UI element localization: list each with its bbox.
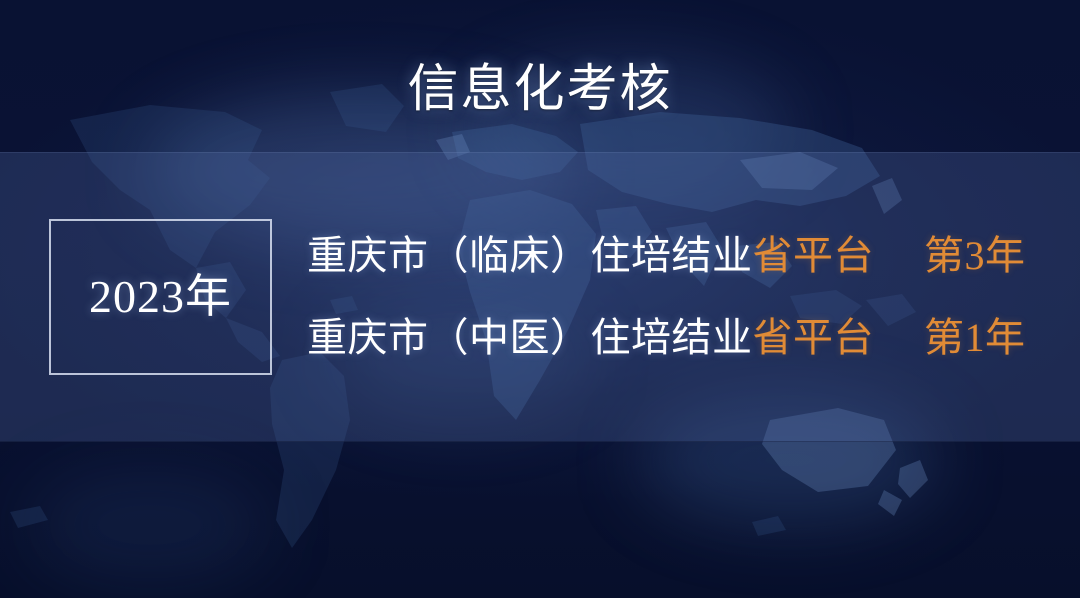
year-badge: 2023年 — [49, 219, 272, 375]
content-row: 2023年 重庆市（临床）住培结业省平台第3年 重庆市（中医）住培结业省平台第1… — [0, 152, 1080, 442]
slide-root: 信息化考核 2023年 重庆市（临床）住培结业省平台第3年 重庆市（中医）住培结… — [0, 0, 1080, 598]
statement-main-text: 重庆市（中医）住培结业 — [307, 315, 753, 360]
statement-main-text: 重庆市（临床）住培结业 — [307, 233, 753, 278]
statement-accent-text: 省平台 — [753, 233, 875, 278]
statement-rank-text: 第1年 — [924, 315, 1026, 360]
list-item: 重庆市（中医）住培结业省平台第1年 — [307, 316, 1080, 360]
page-title: 信息化考核 — [0, 60, 1080, 120]
statement-list: 重庆市（临床）住培结业省平台第3年 重庆市（中医）住培结业省平台第1年 — [307, 234, 1080, 360]
statement-accent-text: 省平台 — [753, 315, 875, 360]
background-glow — [30, 470, 270, 580]
statement-rank-text: 第3年 — [924, 233, 1026, 278]
list-item: 重庆市（临床）住培结业省平台第3年 — [307, 234, 1080, 278]
year-label: 2023年 — [89, 272, 232, 322]
